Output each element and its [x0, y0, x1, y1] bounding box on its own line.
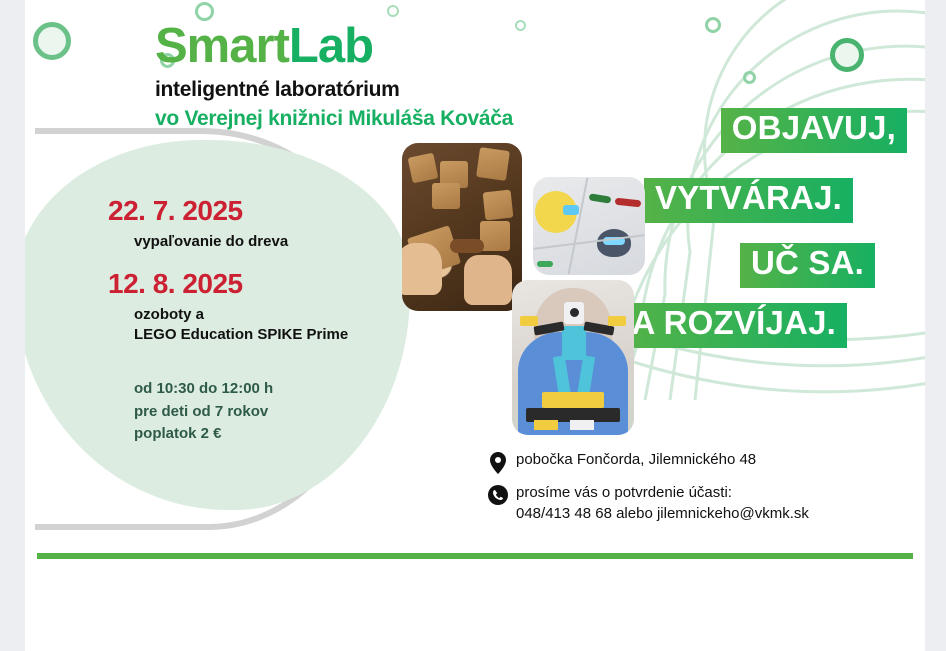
logo-text-smart: Smart — [155, 19, 289, 73]
poster-canvas: SmartLab inteligentné laboratórium vo Ve… — [25, 0, 925, 651]
map-pin-icon — [480, 450, 516, 474]
slogan-uc-sa: UČ SA. — [740, 243, 875, 288]
contact-block: pobočka Fončorda, Jilemnického 48 prosím… — [480, 450, 910, 533]
contact-address: pobočka Fončorda, Jilemnického 48 — [516, 450, 756, 471]
practical-age: pre deti od 7 rokov — [134, 401, 408, 424]
contact-phone: prosíme vás o potvrdenie účasti: 048/413… — [516, 483, 809, 524]
contact-row-phone: prosíme vás o potvrdenie účasti: 048/413… — [480, 483, 910, 524]
phone-icon — [480, 483, 516, 505]
event-description-2: ozoboty a LEGO Education SPIKE Prime — [134, 305, 408, 346]
event-date-1: 22. 7. 2025 — [108, 196, 408, 227]
decorative-ring-mid-top — [387, 5, 399, 17]
contact-phone-detail: 048/413 48 68 alebo jilemnickeho@vkmk.sk — [516, 505, 809, 522]
decorative-ring-small-right — [705, 17, 721, 33]
smartlab-logo: SmartLab — [155, 22, 513, 71]
practical-info: od 10:30 do 12:00 h pre deti od 7 rokov … — [134, 378, 408, 446]
practical-fee: poplatok 2 € — [134, 423, 408, 446]
event-description-2-line1: ozoboty a — [134, 305, 408, 325]
photo-ozobots — [533, 177, 645, 275]
footer: BANSKOBYSTRICKÝ SAMOSPRÁVNY KRAJ VEDECKO… — [25, 566, 925, 651]
contact-phone-intro: prosíme vás o potvrdenie účasti: — [516, 484, 732, 501]
poster-subtitle-primary: inteligentné laboratórium — [155, 78, 513, 101]
decorative-ring-upper-mid — [515, 20, 526, 31]
slogan-objavuj: OBJAVUJ, — [721, 108, 907, 153]
event-date-2: 12. 8. 2025 — [108, 269, 408, 300]
event-description-1: vypaľovanie do dreva — [134, 232, 408, 252]
logo-text-lab: Lab — [289, 19, 373, 73]
photo-lego-spike — [512, 280, 634, 435]
poster-subtitle-secondary: vo Verejnej knižnici Mikuláša Kováča — [155, 107, 513, 130]
poster-header: SmartLab inteligentné laboratórium vo Ve… — [155, 22, 513, 130]
decorative-ring-large-right — [830, 38, 864, 72]
slogan-vytvaraj: VYTVÁRAJ. — [644, 178, 853, 223]
footer-divider — [37, 553, 913, 559]
events-info-block: 22. 7. 2025 vypaľovanie do dreva 12. 8. … — [108, 196, 408, 446]
decorative-ring-large-left — [33, 22, 71, 60]
decorative-ring-tiny-right — [743, 71, 756, 84]
practical-time: od 10:30 do 12:00 h — [134, 378, 408, 401]
event-description-2-line2: LEGO Education SPIKE Prime — [134, 325, 408, 345]
contact-row-address: pobočka Fončorda, Jilemnického 48 — [480, 450, 910, 474]
slogan-a-rozvijaj: A ROZVÍJAJ. — [620, 303, 847, 348]
photo-wood-burning — [402, 143, 522, 311]
